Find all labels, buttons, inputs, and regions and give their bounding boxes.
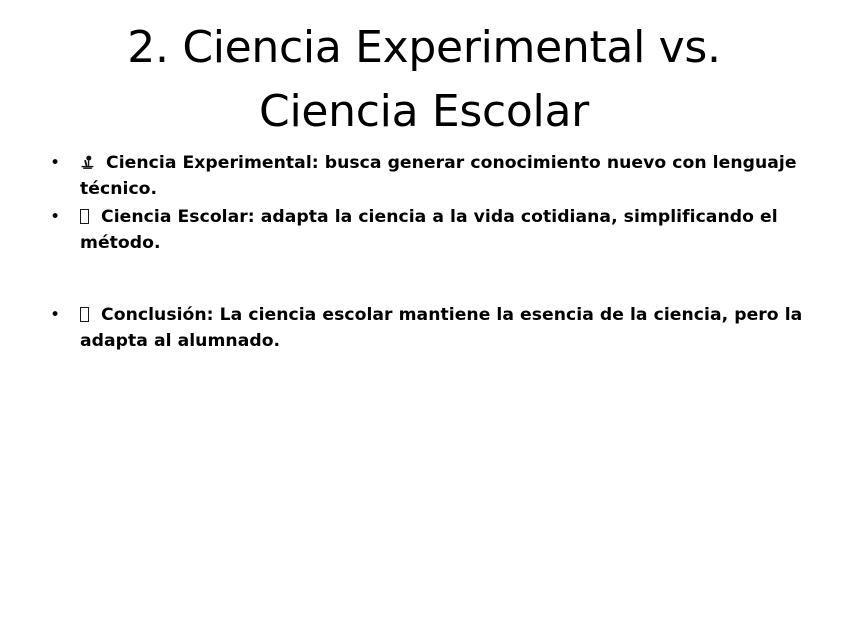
bullet-marker: • (50, 150, 62, 176)
list-item-text: Ciencia Escolar: adapta la ciencia a la … (80, 207, 778, 253)
list-item: • Ciencia Experimental: busca generar co… (34, 150, 814, 202)
microscope-icon (80, 155, 95, 170)
list-item-text: Conclusión: La ciencia escolar mantiene … (80, 305, 802, 351)
missing-glyph-box-icon (80, 307, 89, 322)
page-title: 2. Ciencia Experimental vs. Ciencia Esco… (40, 16, 808, 144)
bullet-list: • Ciencia Experimental: busca generar co… (34, 150, 814, 354)
list-item: • Conclusión: La ciencia escolar mantien… (34, 302, 814, 354)
presentation-slide: 2. Ciencia Experimental vs. Ciencia Esco… (0, 0, 848, 636)
list-item-text: Ciencia Experimental: busca generar cono… (80, 153, 797, 199)
bullet-marker: • (50, 302, 62, 328)
list-item: • Ciencia Escolar: adapta la ciencia a l… (34, 204, 814, 256)
bullet-marker: • (50, 204, 62, 230)
missing-glyph-box-icon (80, 209, 89, 224)
